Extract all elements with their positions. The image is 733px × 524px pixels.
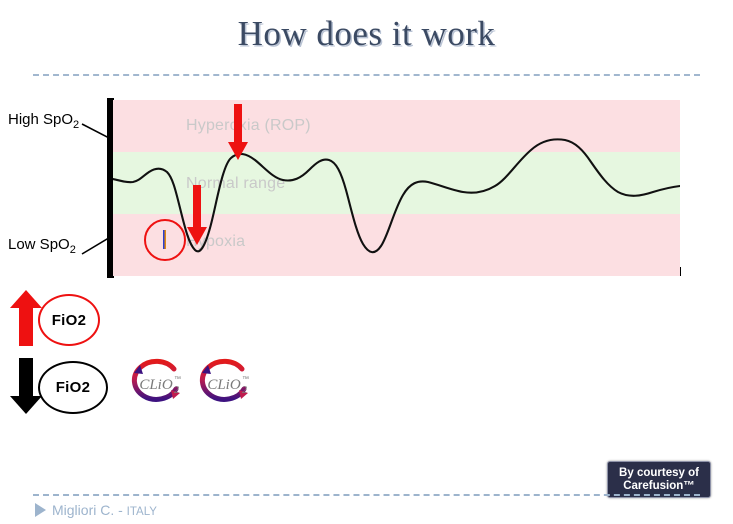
footer-divider — [33, 494, 700, 496]
fio2-increase-badge[interactable]: FiO2 — [38, 294, 100, 346]
axis-label-low-spo2: Low SpO2 — [8, 236, 76, 256]
credit-line-2: Carefusion™ — [623, 480, 695, 493]
clio2-logo-sup: ™ — [174, 376, 181, 383]
fio2-decrease-label: FiO2 — [56, 379, 91, 396]
fio2-increase-label: FiO2 — [52, 312, 87, 329]
clio2-logo-icon: CLiO 2 ™ — [126, 355, 188, 411]
fio2-decrease-badge[interactable]: FiO2 — [38, 361, 108, 414]
clio2-logo-sub: 2 — [174, 385, 179, 396]
credit-line-1: By courtesy of — [619, 467, 699, 480]
clio2-logo-text: CLiO — [207, 377, 241, 393]
spo2-chart: Hyperoxia (ROP) Normal range Hypoxia — [113, 100, 680, 276]
clio2-logo-text: CLiO — [139, 377, 173, 393]
footer-country: ITALY — [127, 506, 157, 518]
credit-box: By courtesy of Carefusion™ — [607, 461, 711, 498]
hyperoxia-down-arrow-icon — [225, 104, 251, 162]
slide-canvas: How does it work High SpO2 Low SpO2 Hype… — [0, 0, 733, 524]
clio2-logo-icon: CLiO 2 ™ — [194, 355, 256, 411]
footer-author: Migliori C. - — [52, 502, 127, 518]
axis-label-high-spo2: High SpO2 — [8, 111, 79, 131]
triangle-bullet-icon — [35, 503, 46, 517]
clio2-logo-sup: ™ — [242, 376, 249, 383]
hypoxia-down-arrow-icon — [184, 185, 210, 247]
footer-text: Migliori C. - ITALY — [52, 502, 157, 518]
sensor-marker-icon — [144, 219, 186, 261]
page-title: How does it work — [0, 14, 733, 54]
clio2-logo-sub: 2 — [242, 385, 247, 396]
marker-bar-icon — [163, 230, 166, 249]
title-divider — [33, 74, 700, 76]
